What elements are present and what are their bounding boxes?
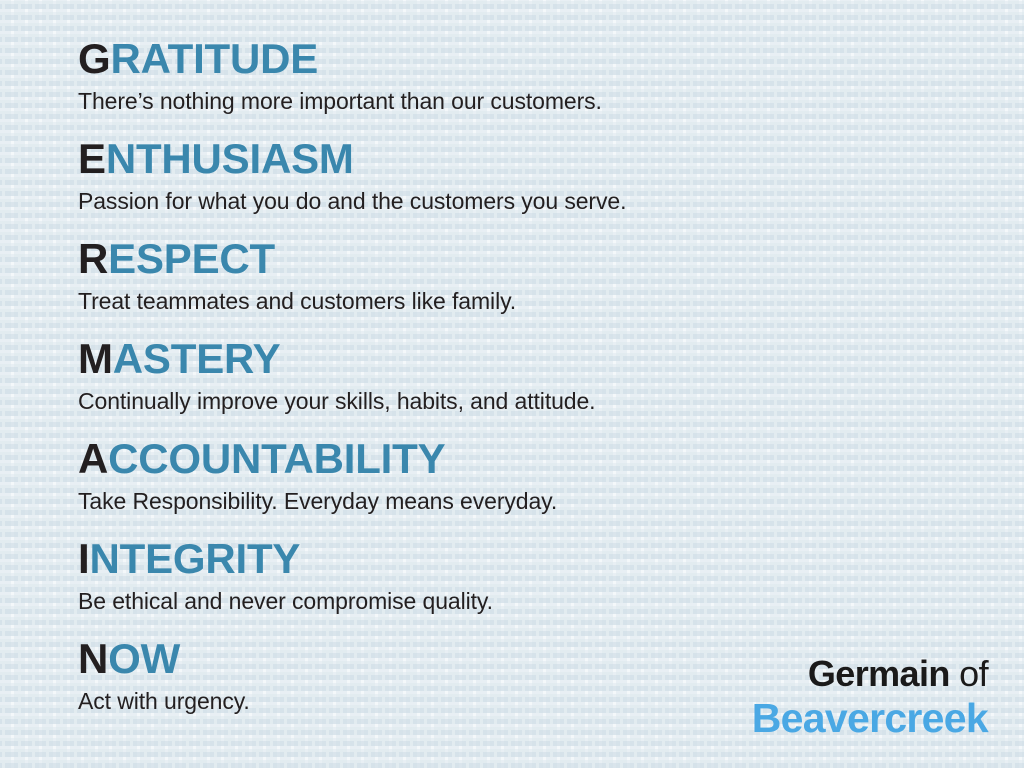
value-heading-remainder: OW bbox=[108, 635, 180, 682]
value-heading-mastery: MASTERY bbox=[78, 334, 978, 384]
value-block-gratitude: GRATITUDE There’s nothing more important… bbox=[78, 34, 978, 134]
value-heading-remainder: NTHUSIASM bbox=[106, 135, 354, 182]
value-initial-letter: R bbox=[78, 235, 108, 282]
value-heading-respect: RESPECT bbox=[78, 234, 978, 284]
dealership-logo: Germain of Beavercreek bbox=[752, 653, 988, 741]
value-heading-accountability: ACCOUNTABILITY bbox=[78, 434, 978, 484]
value-initial-letter: I bbox=[78, 535, 89, 582]
value-heading-enthusiasm: ENTHUSIASM bbox=[78, 134, 978, 184]
value-heading-remainder: RATITUDE bbox=[110, 35, 318, 82]
value-block-respect: RESPECT Treat teammates and customers li… bbox=[78, 234, 978, 334]
value-description-integrity: Be ethical and never compromise quality. bbox=[78, 585, 978, 617]
value-initial-letter: N bbox=[78, 635, 108, 682]
value-heading-remainder: NTEGRITY bbox=[89, 535, 300, 582]
value-block-enthusiasm: ENTHUSIASM Passion for what you do and t… bbox=[78, 134, 978, 234]
logo-location-name: Beavercreek bbox=[752, 695, 988, 741]
value-heading-remainder: ASTERY bbox=[113, 335, 281, 382]
logo-connector-word bbox=[950, 653, 959, 694]
value-description-respect: Treat teammates and customers like famil… bbox=[78, 285, 978, 317]
value-block-accountability: ACCOUNTABILITY Take Responsibility. Ever… bbox=[78, 434, 978, 534]
value-heading-remainder: ESPECT bbox=[108, 235, 275, 282]
poster-canvas: GRATITUDE There’s nothing more important… bbox=[0, 0, 1024, 768]
value-description-accountability: Take Responsibility. Everyday means ever… bbox=[78, 485, 978, 517]
value-heading-integrity: INTEGRITY bbox=[78, 534, 978, 584]
logo-primary-line: Germain of bbox=[752, 653, 988, 695]
value-initial-letter: A bbox=[78, 435, 108, 482]
value-heading-remainder: CCOUNTABILITY bbox=[108, 435, 445, 482]
core-values-list: GRATITUDE There’s nothing more important… bbox=[78, 34, 978, 734]
value-block-mastery: MASTERY Continually improve your skills,… bbox=[78, 334, 978, 434]
value-description-enthusiasm: Passion for what you do and the customer… bbox=[78, 185, 978, 217]
value-initial-letter: E bbox=[78, 135, 106, 182]
value-description-mastery: Continually improve your skills, habits,… bbox=[78, 385, 978, 417]
value-description-gratitude: There’s nothing more important than our … bbox=[78, 85, 978, 117]
logo-connector: of bbox=[959, 653, 988, 694]
value-heading-gratitude: GRATITUDE bbox=[78, 34, 978, 84]
value-initial-letter: M bbox=[78, 335, 113, 382]
value-initial-letter: G bbox=[78, 35, 110, 82]
value-block-integrity: INTEGRITY Be ethical and never compromis… bbox=[78, 534, 978, 634]
logo-brand-name: Germain bbox=[808, 653, 950, 694]
